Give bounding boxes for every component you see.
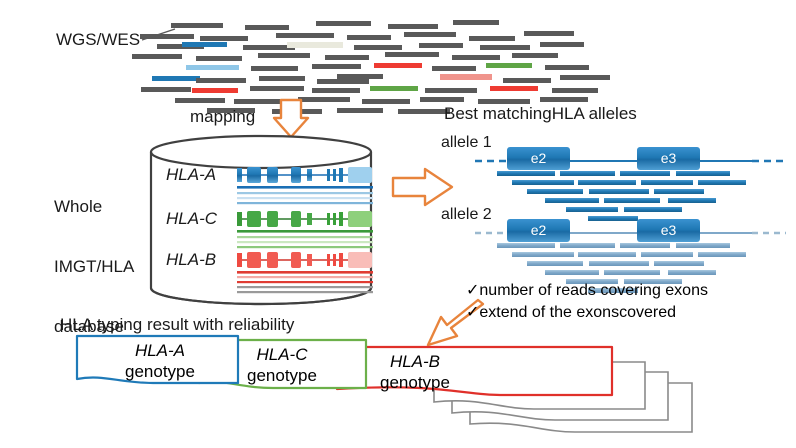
label-allele-1: allele 1: [441, 134, 492, 153]
database-line-1: Whole: [54, 197, 134, 217]
check-icon: ✓: [466, 282, 479, 299]
gene-label-hla-c: HLA-C: [166, 209, 217, 229]
mapping-arrow-icon: [274, 100, 308, 137]
check-icon: ✓: [466, 304, 479, 321]
genotype-text-hla-c: HLA-C genotype: [212, 344, 352, 387]
exon-box-e3-allele1: e3: [637, 147, 700, 170]
label-mapping: mapping: [190, 107, 255, 127]
criteria-text: extend of the exonscovered: [479, 304, 676, 321]
genotype-gene-b: HLA-B: [345, 351, 485, 372]
exon-label-e3-2: e3: [661, 222, 677, 238]
label-wgs-wes: WGS/WES: [56, 30, 140, 50]
genotype-word-c: genotype: [212, 365, 352, 386]
genotype-text-hla-a: HLA-A genotype: [90, 340, 230, 383]
genotype-word-b: genotype: [345, 372, 485, 393]
label-allele-2: allele 2: [441, 206, 492, 225]
genotype-gene-c: HLA-C: [212, 344, 352, 365]
gene-track-hla-c: [237, 211, 373, 248]
gene-label-hla-a: HLA-A: [166, 165, 216, 185]
allele-1-alignment: [475, 161, 786, 221]
database-line-2: IMGT/HLA: [54, 257, 134, 277]
match-arrow-icon: [393, 169, 452, 205]
gene-track-hla-a: [237, 167, 373, 204]
exon-label-e3: e3: [661, 150, 677, 166]
criteria-text: number of reads covering exons: [479, 282, 708, 299]
gene-label-hla-b: HLA-B: [166, 250, 216, 270]
label-result-header: HLA typing result with reliability: [60, 315, 294, 335]
criteria-list: ✓number of reads covering exons ✓extend …: [466, 280, 708, 323]
exon-box-e2-allele1: e2: [507, 147, 570, 170]
criteria-item: ✓extend of the exonscovered: [466, 302, 708, 324]
gene-track-hla-b: [237, 252, 373, 293]
genotype-gene-a: HLA-A: [90, 340, 230, 361]
criteria-item: ✓number of reads covering exons: [466, 280, 708, 302]
genotype-word-a: genotype: [90, 361, 230, 382]
exon-label-e2-2: e2: [531, 222, 547, 238]
exon-box-e2-allele2: e2: [507, 219, 570, 242]
figure-canvas: WGS/WES mapping Whole IMGT/HLA database …: [0, 0, 796, 448]
exon-box-e3-allele2: e3: [637, 219, 700, 242]
label-best-matching-alleles: Best matchingHLA alleles: [444, 104, 637, 124]
read-cloud: [132, 20, 610, 114]
exon-label-e2: e2: [531, 150, 547, 166]
genotype-text-hla-b: HLA-B genotype: [345, 351, 485, 394]
